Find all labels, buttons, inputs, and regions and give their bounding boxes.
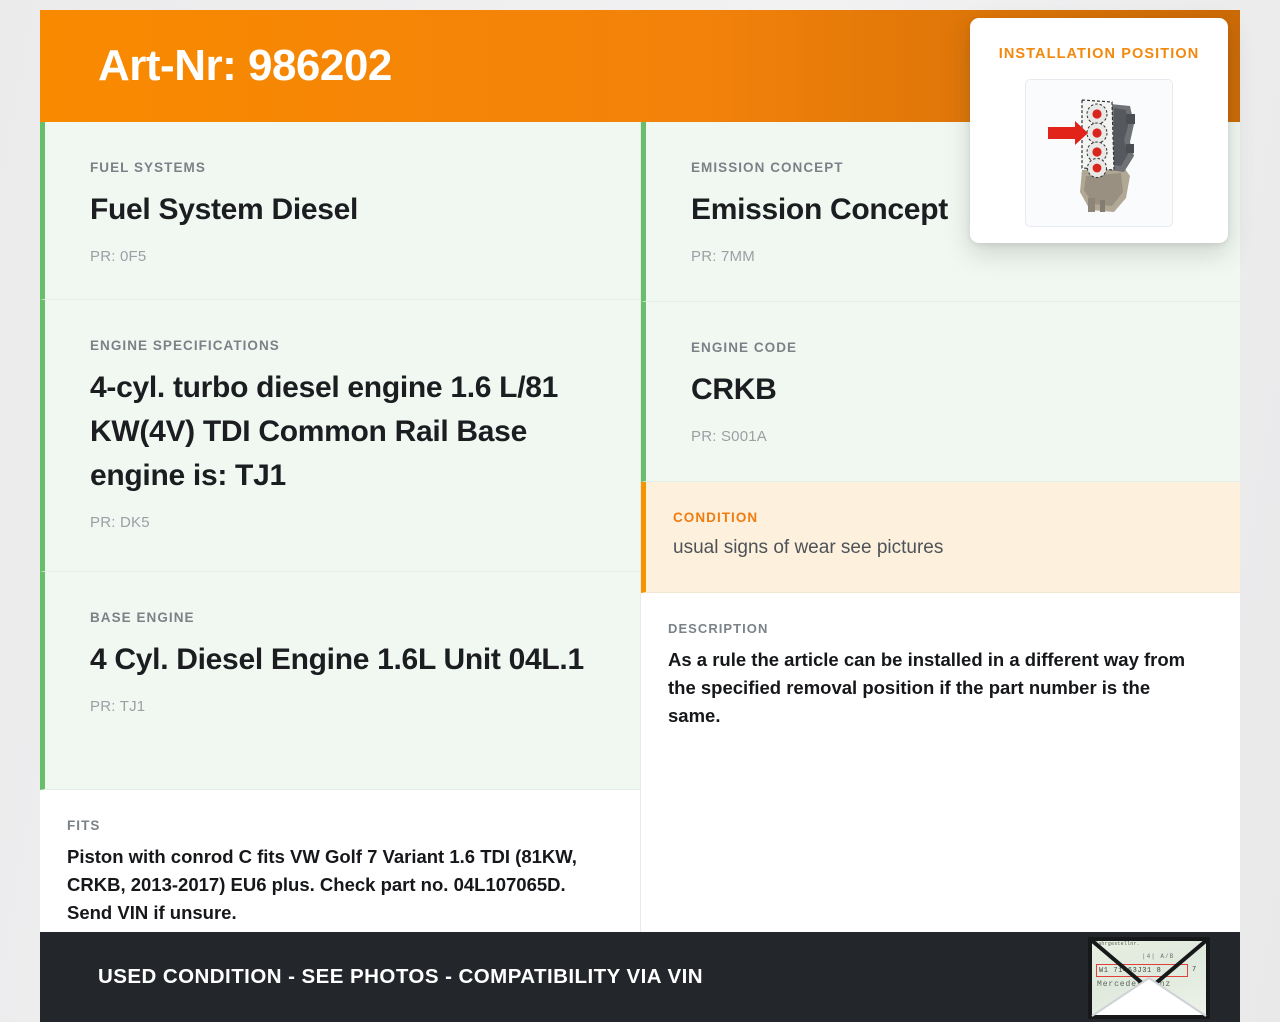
spec-card-engine-code: ENGINE CODE CRKB PR: S001A	[641, 302, 1240, 482]
fits-label: FITS	[67, 818, 598, 833]
engine-port-2	[1126, 144, 1134, 153]
spec-label: ENGINE SPECIFICATIONS	[90, 338, 598, 353]
spec-card-base-engine: BASE ENGINE 4 Cyl. Diesel Engine 1.6L Un…	[40, 572, 640, 790]
right-column: EMISSION CONCEPT Emission Concept PR: 7M…	[640, 122, 1240, 932]
cylinder-label-d: D	[1094, 112, 1099, 119]
footer-bar: USED CONDITION - SEE PHOTOS - COMPATIBIL…	[40, 932, 1240, 1022]
spec-label: BASE ENGINE	[90, 610, 598, 625]
installation-position-title: INSTALLATION POSITION	[970, 46, 1228, 62]
spec-card-engine-specifications: ENGINE SPECIFICATIONS 4-cyl. turbo diese…	[40, 300, 640, 572]
condition-section: CONDITION usual signs of wear see pictur…	[641, 482, 1240, 593]
spec-value: CRKB	[691, 368, 1198, 412]
engine-port	[1126, 114, 1135, 124]
description-label: DESCRIPTION	[668, 621, 1200, 636]
engine-installation-position-diagram: D C B A	[1026, 80, 1173, 227]
spec-pr-code: PR: TJ1	[90, 698, 598, 715]
gearbox-stub	[1088, 198, 1095, 212]
condition-label: CONDITION	[673, 510, 1198, 525]
cylinder-label-b: B	[1094, 150, 1099, 157]
footer-banner-text: USED CONDITION - SEE PHOTOS - COMPATIBIL…	[98, 965, 703, 989]
cylinder-label-a: A	[1094, 166, 1099, 173]
spec-pr-code: PR: 7MM	[691, 248, 1198, 265]
spec-pr-code: PR: S001A	[691, 428, 1198, 445]
content-body: FUEL SYSTEMS Fuel System Diesel PR: 0F5 …	[40, 122, 1240, 932]
left-column: FUEL SYSTEMS Fuel System Diesel PR: 0F5 …	[40, 122, 640, 932]
gearbox-stub-2	[1100, 200, 1105, 212]
spec-label: FUEL SYSTEMS	[90, 160, 598, 175]
installation-position-card[interactable]: INSTALLATION POSITION D	[970, 18, 1228, 243]
spec-pr-code: PR: DK5	[90, 514, 598, 531]
spec-card-fuel-systems: FUEL SYSTEMS Fuel System Diesel PR: 0F5	[40, 122, 640, 300]
spec-value: 4-cyl. turbo diesel engine 1.6 L/81 KW(4…	[90, 366, 598, 498]
page-root: Art-Nr: 986202 FUEL SYSTEMS Fuel System …	[0, 0, 1280, 1022]
spec-label: ENGINE CODE	[691, 340, 1198, 355]
vin-envelope-thumbnail[interactable]: Fahrgestellnr. |4| A/B W1 71463J31 8 7 M…	[1088, 937, 1210, 1019]
spec-value: 4 Cyl. Diesel Engine 1.6L Unit 04L.1	[90, 638, 598, 682]
page-title: Art-Nr: 986202	[98, 44, 392, 88]
cylinder-label-c: C	[1094, 131, 1099, 138]
installation-position-image-frame: D C B A	[1025, 79, 1173, 227]
description-text: As a rule the article can be installed i…	[668, 646, 1200, 730]
fits-text: Piston with conrod C fits VW Golf 7 Vari…	[67, 843, 598, 926]
spec-value: Fuel System Diesel	[90, 188, 598, 232]
spec-pr-code: PR: 0F5	[90, 248, 598, 265]
description-section: DESCRIPTION As a rule the article can be…	[641, 593, 1240, 932]
envelope-icon	[1088, 937, 1210, 1019]
condition-text: usual signs of wear see pictures	[673, 535, 1198, 562]
